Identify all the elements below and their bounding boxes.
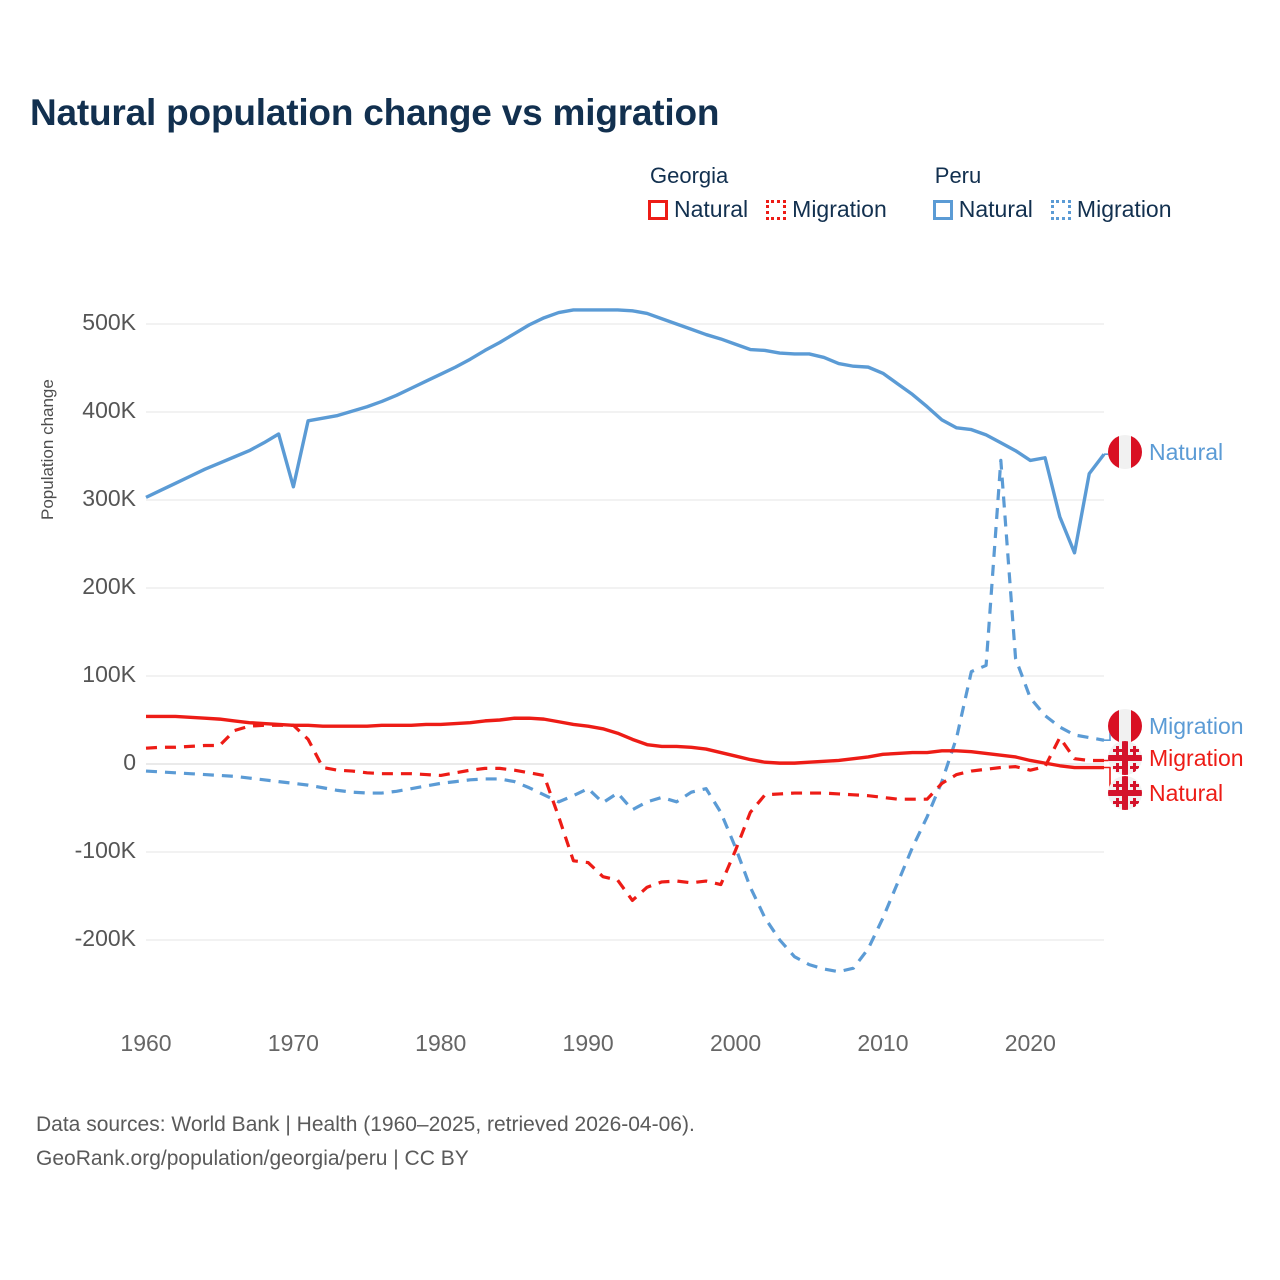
end-label-georgia-migration[interactable]: Migration [1108, 741, 1244, 775]
y-axis-tick-label: -100K [75, 837, 136, 864]
end-label-georgia-natural[interactable]: Natural [1108, 776, 1223, 810]
x-axis-tick-label: 1980 [415, 1030, 466, 1057]
end-label-text: Natural [1149, 439, 1223, 466]
y-axis-tick-label: 500K [82, 309, 136, 336]
chart-plot-area: Population change -200K-100K0100K200K300… [0, 0, 1280, 1280]
georgia-flag-icon [1108, 776, 1142, 810]
end-label-text: Migration [1149, 745, 1244, 772]
end-label-peru-natural[interactable]: Natural [1108, 435, 1223, 469]
peru-flag-icon [1108, 709, 1142, 743]
peru-flag-icon [1108, 435, 1142, 469]
x-axis-tick-label: 2010 [857, 1030, 908, 1057]
y-axis-tick-label: -200K [75, 925, 136, 952]
y-axis-tick-label: 200K [82, 573, 136, 600]
footer-attribution: GeoRank.org/population/georgia/peru | CC… [36, 1142, 695, 1176]
footer-data-sources: Data sources: World Bank | Health (1960–… [36, 1108, 695, 1142]
y-axis-tick-label: 400K [82, 397, 136, 424]
end-label-text: Natural [1149, 780, 1223, 807]
x-axis-tick-label: 2020 [1005, 1030, 1056, 1057]
x-axis-tick-label: 1970 [268, 1030, 319, 1057]
end-label-peru-migration[interactable]: Migration [1108, 709, 1244, 743]
y-axis-tick-label: 300K [82, 485, 136, 512]
x-axis-tick-label: 1990 [563, 1030, 614, 1057]
y-axis-tick-label: 0 [123, 749, 136, 776]
series-line-peru-migration [146, 460, 1104, 971]
chart-svg [0, 0, 1280, 1280]
x-axis-tick-label: 1960 [120, 1030, 171, 1057]
x-axis-tick-label: 2000 [710, 1030, 761, 1057]
series-line-georgia-natural [146, 716, 1104, 767]
y-axis-tick-label: 100K [82, 661, 136, 688]
georgia-flag-icon [1108, 741, 1142, 775]
series-line-peru-natural [146, 310, 1104, 553]
chart-footer: Data sources: World Bank | Health (1960–… [36, 1108, 695, 1176]
end-label-text: Migration [1149, 713, 1244, 740]
